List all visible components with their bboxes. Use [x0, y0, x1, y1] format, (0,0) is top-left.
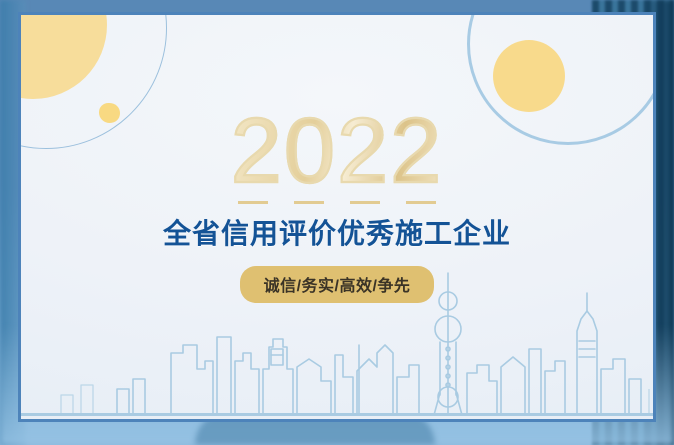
poster-frame: 2022 全省信用评价优秀施工企业 诚信/务实/高效/争先 [18, 12, 656, 422]
year-text: 2022 [231, 105, 444, 197]
circle-top-right-icon [493, 40, 565, 112]
year-block: 2022 [21, 105, 653, 197]
circle-top-left-icon [21, 15, 107, 99]
poster-canvas: 2022 全省信用评价优秀施工企业 诚信/务实/高效/争先 [0, 0, 674, 445]
city-skyline-illustration [21, 249, 653, 419]
page-title: 全省信用评价优秀施工企业 [21, 212, 653, 252]
poster-card: 2022 全省信用评价优秀施工企业 诚信/务实/高效/争先 [21, 15, 653, 419]
